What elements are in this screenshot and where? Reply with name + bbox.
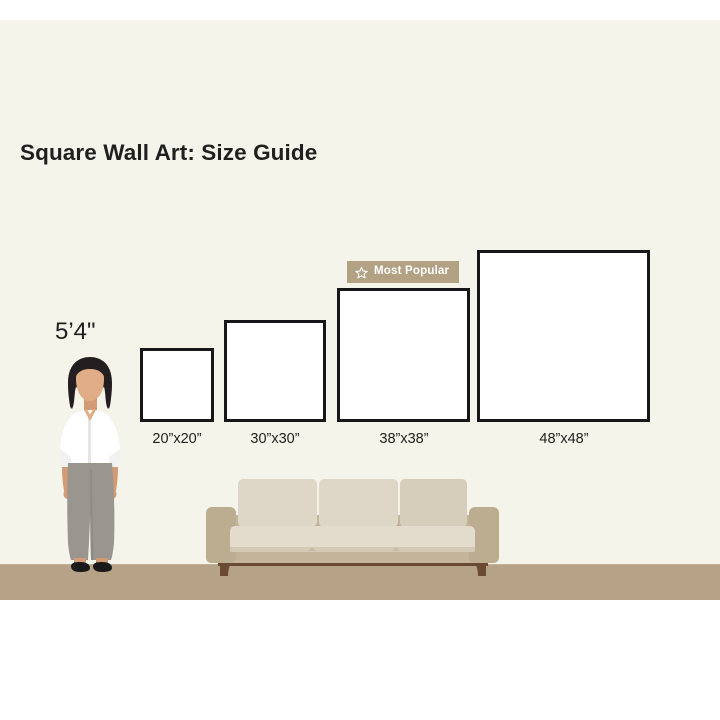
- art-frame-38[interactable]: [337, 288, 470, 422]
- scale-reference-person: [38, 357, 143, 579]
- size-guide-infographic: Square Wall Art: Size Guide 5’4": [0, 0, 720, 720]
- sofa-illustration: [200, 475, 505, 580]
- size-label-38: 38”x38”: [379, 431, 428, 447]
- size-label-48: 48”x48”: [539, 431, 588, 447]
- art-frame-30[interactable]: [224, 320, 326, 422]
- most-popular-badge[interactable]: Most Popular: [347, 261, 459, 283]
- size-label-20: 20”x20”: [152, 431, 201, 447]
- star-outline-icon: [355, 266, 368, 279]
- art-frame-20[interactable]: [140, 348, 214, 422]
- size-label-30: 30”x30”: [250, 431, 299, 447]
- art-frame-48[interactable]: [477, 250, 650, 422]
- page-title: Square Wall Art: Size Guide: [20, 140, 317, 166]
- person-height-label: 5’4": [55, 318, 96, 346]
- most-popular-badge-label: Most Popular: [374, 266, 449, 278]
